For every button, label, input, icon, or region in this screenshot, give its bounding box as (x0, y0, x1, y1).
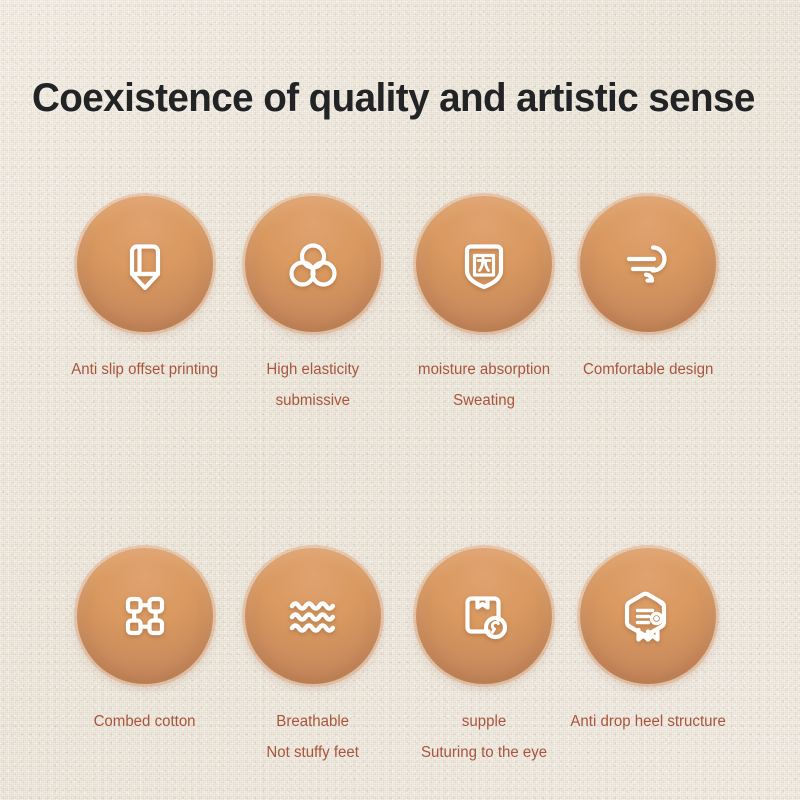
feature-item[interactable]: High elasticity submissive (213, 196, 413, 416)
feature-caption-line2: Not stuffy feet (267, 737, 359, 768)
feature-caption-line2: Suturing to the eye (421, 737, 547, 768)
feature-icon-badge[interactable] (245, 196, 381, 332)
four-node-frame-icon (109, 580, 181, 652)
feature-icon-badge[interactable] (77, 196, 213, 332)
feature-caption: Comfortable design (583, 354, 713, 385)
feature-icon-badge[interactable] (77, 548, 213, 684)
feature-caption-line1: moisture absorption (418, 361, 550, 378)
wavy-lines-breathable-icon (277, 580, 349, 652)
feature-row-1: Anti slip offset printing Hi (0, 196, 800, 416)
feature-caption-line2: submissive (267, 385, 360, 416)
feature-icon-badge[interactable] (245, 548, 381, 684)
feature-caption: moisture absorption Sweating (418, 354, 550, 416)
feature-caption-line1: supple (462, 713, 506, 730)
feature-caption-line1: Breathable (277, 713, 350, 730)
feature-icon-badge[interactable] (580, 196, 716, 332)
page-title: Coexistence of quality and artistic sens… (32, 74, 755, 122)
feature-row-2: Combed cotton Breathable (0, 548, 800, 768)
feature-caption-line1: High elasticity (267, 361, 360, 378)
feature-caption: supple Suturing to the eye (421, 706, 547, 768)
feature-caption: Combed cotton (94, 706, 196, 737)
package-repair-icon (448, 580, 520, 652)
feature-icon-badge[interactable] (416, 196, 552, 332)
pencil-icon (109, 228, 181, 300)
feature-caption: Anti drop heel structure (570, 706, 725, 737)
feature-caption-line1: Anti drop heel structure (570, 713, 725, 730)
feature-caption-line1: Anti slip offset printing (72, 361, 219, 378)
feature-caption: Breathable Not stuffy feet (267, 706, 359, 768)
feature-caption-line2: Sweating (418, 385, 550, 416)
feature-grid: Anti slip offset printing Hi (0, 196, 800, 768)
feature-item[interactable]: Breathable Not stuffy feet (213, 548, 413, 768)
feature-icon-badge[interactable] (416, 548, 552, 684)
feature-caption: Anti slip offset printing (72, 354, 219, 385)
three-circles-elasticity-icon (277, 228, 349, 300)
feature-caption: High elasticity submissive (267, 354, 360, 416)
feature-icon-badge[interactable] (580, 548, 716, 684)
feature-caption-line1: Combed cotton (94, 713, 196, 730)
certificate-badge-icon (612, 580, 684, 652)
feature-item[interactable]: Anti drop heel structure (548, 548, 748, 768)
feature-item[interactable]: Comfortable design (548, 196, 748, 416)
wind-airflow-icon (612, 228, 684, 300)
page-background: Coexistence of quality and artistic sens… (0, 0, 800, 800)
feature-caption-line1: Comfortable design (583, 361, 713, 378)
shield-quality-icon (448, 228, 520, 300)
